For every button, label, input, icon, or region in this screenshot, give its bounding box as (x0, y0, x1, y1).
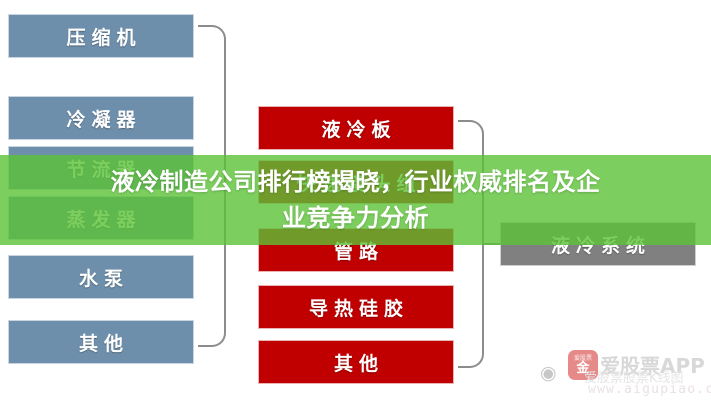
title-line-1: 液冷制造公司排行榜揭晓，行业权威排名及企 (111, 164, 601, 200)
diagram-box-condenser: 冷凝器 (8, 96, 194, 140)
title-banner-text: 液冷制造公司排行榜揭晓，行业权威排名及企 业竞争力分析 (0, 155, 711, 245)
diagram-box-compressor: 压缩机 (8, 14, 194, 58)
diagram-box-cold-plate: 液冷板 (258, 106, 454, 150)
screenshot-canvas: 压缩机 冷凝器 节流器 蒸发器 水泵 其他 液冷板 快速接头组 管路 导热硅胶 … (0, 0, 711, 400)
diagram-box-waterpump: 水泵 (8, 255, 194, 299)
weibo-icon: ◉ (540, 364, 568, 384)
title-line-2: 业竞争力分析 (0, 200, 711, 236)
diagram-box-thermal-gel: 导热硅胶 (258, 285, 454, 329)
watermark-url: www.aigupiao.com (588, 382, 711, 397)
diagram-box-other-left: 其他 (8, 320, 194, 364)
diagram-box-other-middle: 其他 (258, 340, 454, 384)
watermark: ◉ 爱股票 金 爱股票APP 爱股票股票K线图 www.aigupiao.com (538, 346, 711, 400)
app-logo-top-text: 爱股票 (574, 355, 592, 362)
